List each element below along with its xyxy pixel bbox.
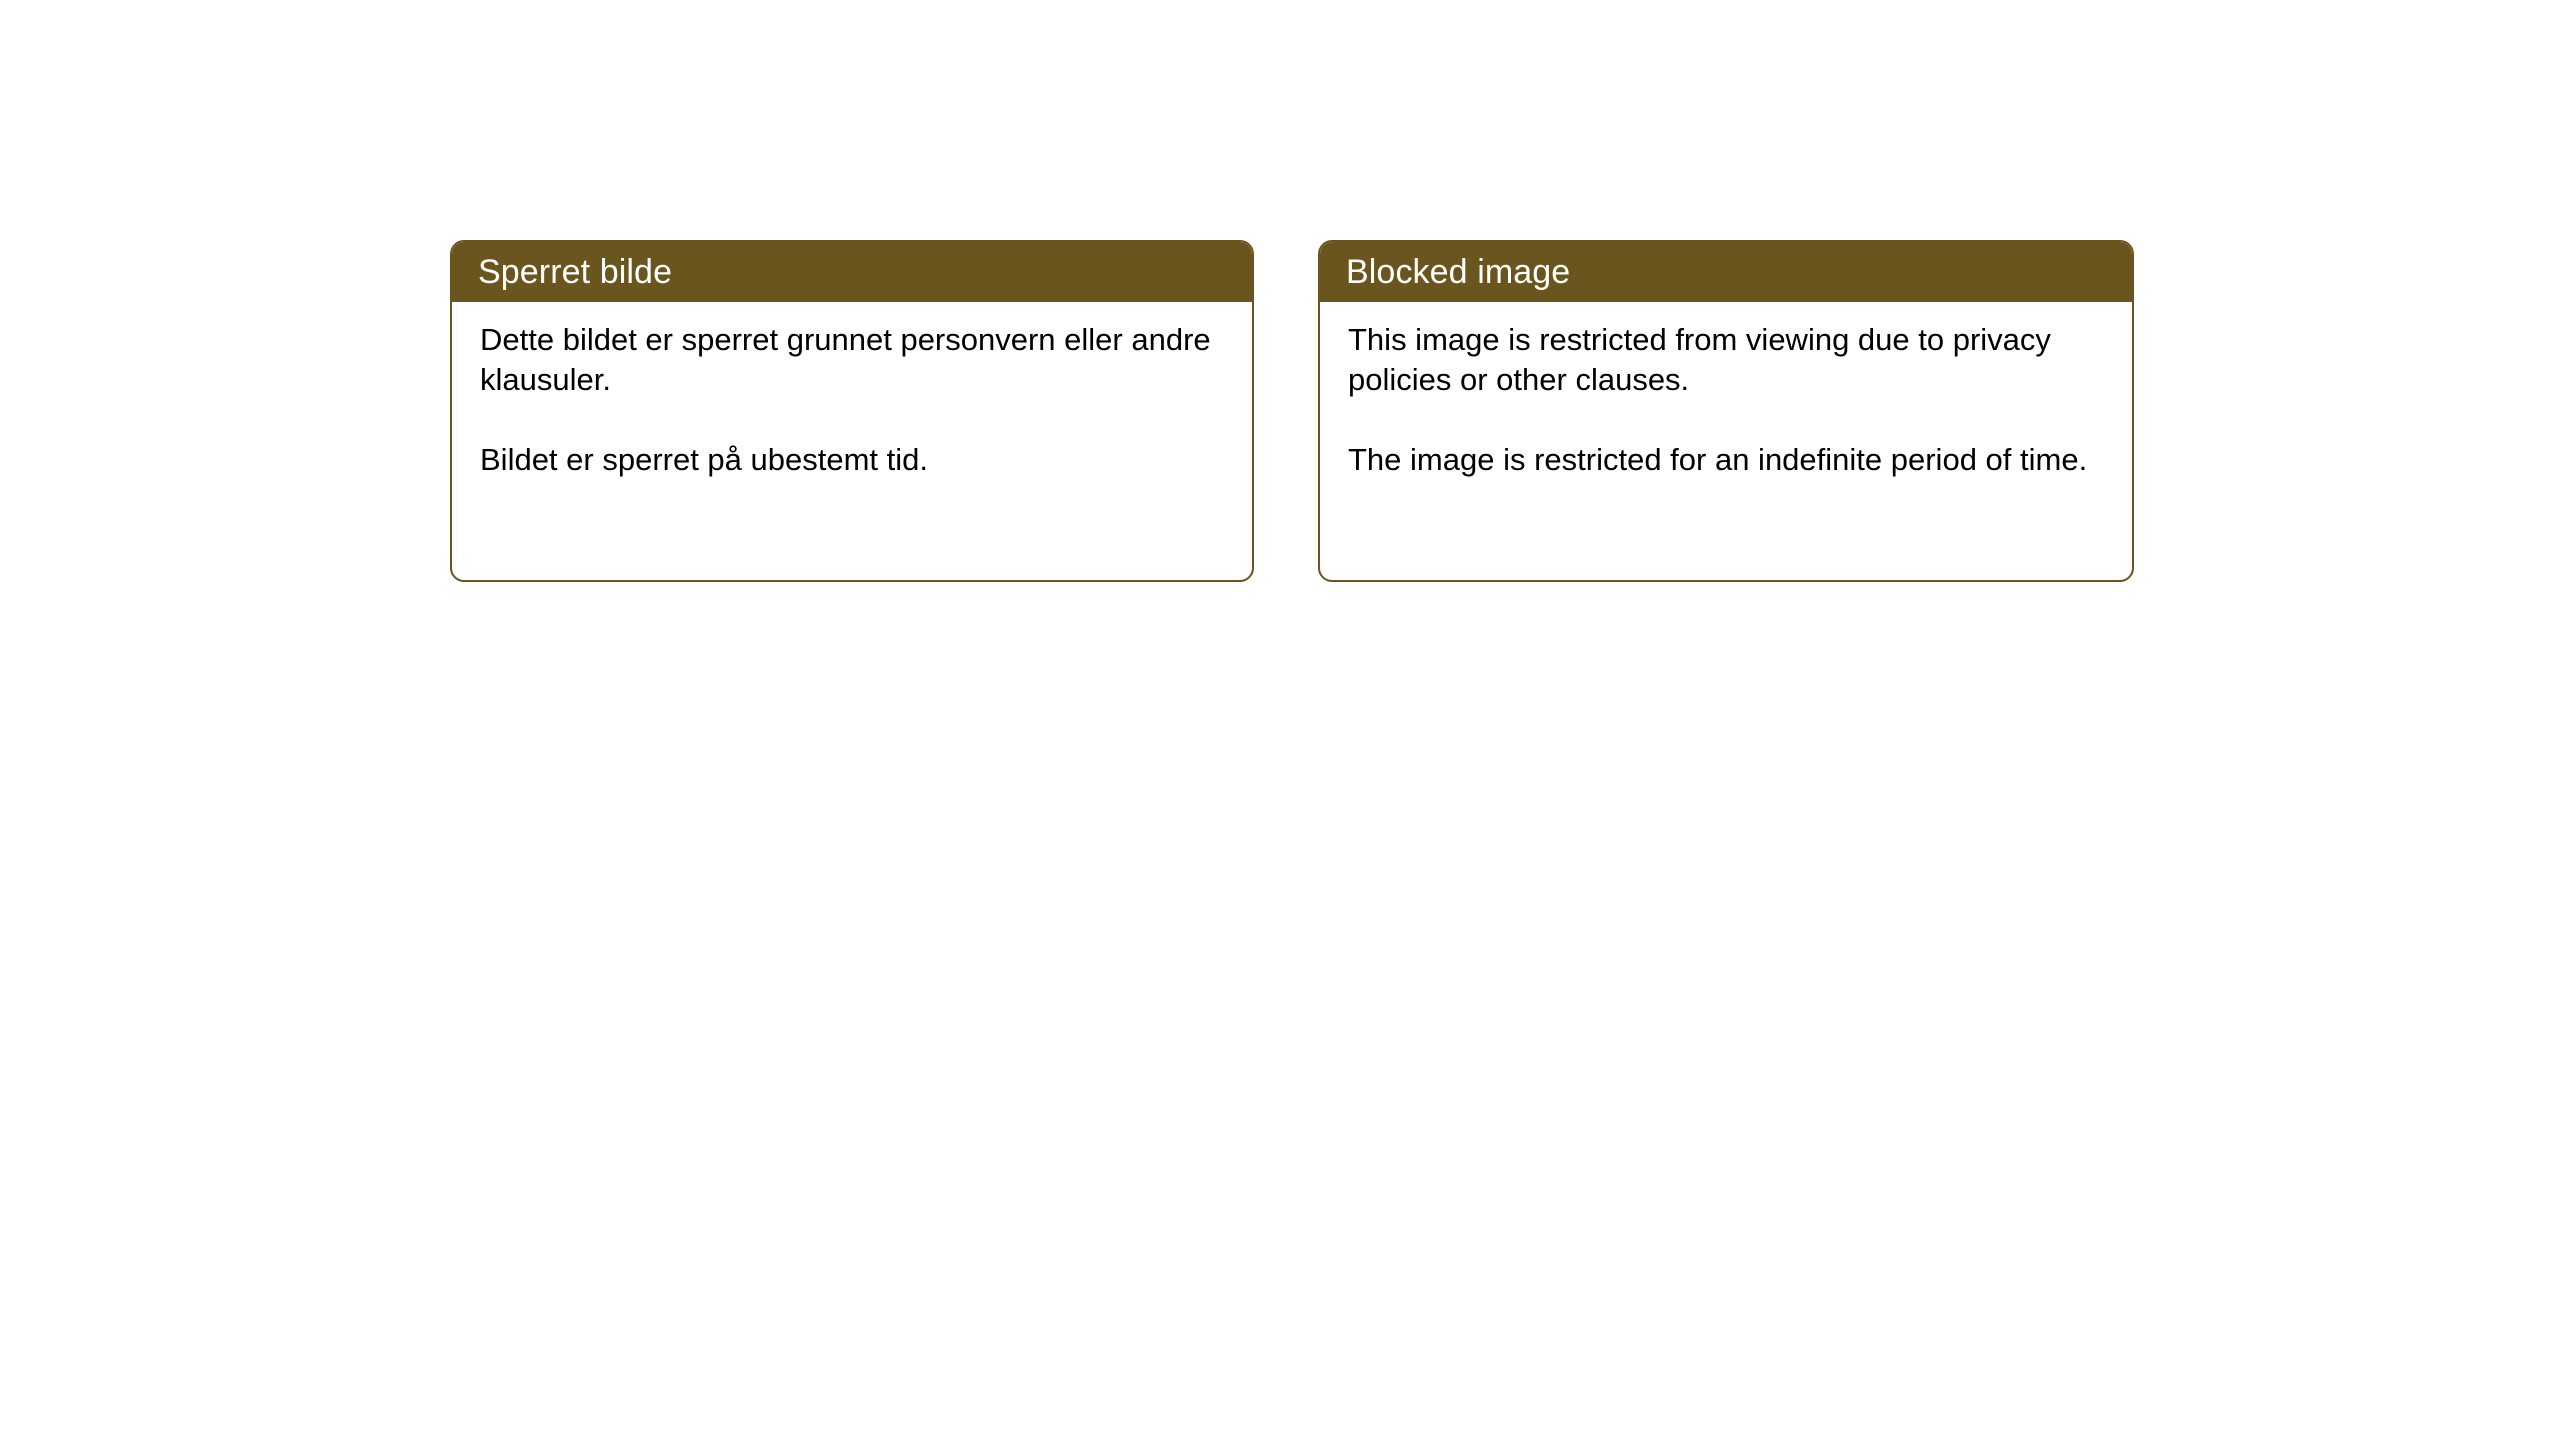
blocked-image-panel-en: Blocked image This image is restricted f… — [1318, 240, 2134, 582]
panel-title-no: Sperret bilde — [478, 255, 672, 289]
panel-header-no: Sperret bilde — [452, 242, 1252, 302]
panel-paragraph-en-1: This image is restricted from viewing du… — [1348, 320, 2106, 400]
panel-body-no: Dette bildet er sperret grunnet personve… — [452, 302, 1252, 506]
panel-title-en: Blocked image — [1346, 255, 1570, 289]
panel-paragraph-no-2: Bildet er sperret på ubestemt tid. — [480, 440, 1226, 480]
panel-paragraph-en-2: The image is restricted for an indefinit… — [1348, 440, 2106, 480]
panel-header-en: Blocked image — [1320, 242, 2132, 302]
blocked-image-panel-no: Sperret bilde Dette bildet er sperret gr… — [450, 240, 1254, 582]
panel-body-en: This image is restricted from viewing du… — [1320, 302, 2132, 506]
page-canvas: Sperret bilde Dette bildet er sperret gr… — [0, 0, 2560, 1440]
panel-paragraph-no-1: Dette bildet er sperret grunnet personve… — [480, 320, 1226, 400]
